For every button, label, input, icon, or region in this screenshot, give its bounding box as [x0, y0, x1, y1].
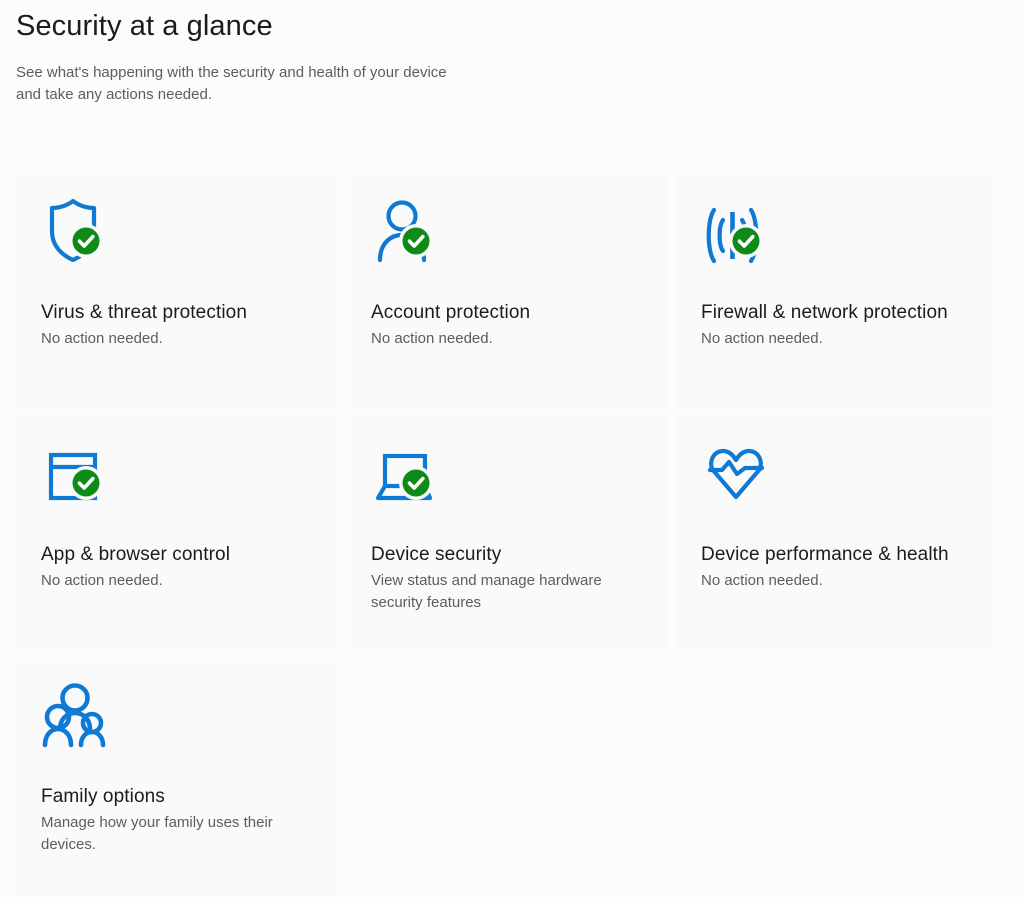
page-subtitle-line-2: and take any actions needed.	[16, 84, 536, 106]
security-at-a-glance-page: Security at a glance See what's happenin…	[0, 0, 1024, 897]
card-text-block: Account protection No action needed.	[371, 299, 652, 350]
browser-window-icon	[42, 437, 118, 513]
card-device-performance-health[interactable]: Device performance & health No action ne…	[676, 415, 998, 654]
card-account-protection[interactable]: Account protection No action needed.	[346, 173, 668, 412]
card-description: No action needed.	[41, 570, 291, 592]
card-title: Device performance & health	[701, 541, 982, 568]
card-description: No action needed.	[371, 328, 621, 350]
card-title: Family options	[41, 783, 322, 810]
page-subtitle-line-1: See what's happening with the security a…	[16, 62, 536, 84]
card-text-block: Firewall & network protection No action …	[701, 299, 982, 350]
card-text-block: Virus & threat protection No action need…	[41, 299, 322, 350]
shield-icon	[42, 195, 118, 271]
card-title: Virus & threat protection	[41, 299, 322, 326]
page-title: Security at a glance	[16, 6, 1024, 46]
card-text-block: Device security View status and manage h…	[371, 541, 652, 614]
family-people-icon	[42, 679, 118, 755]
card-family-options[interactable]: Family options Manage how your family us…	[16, 657, 338, 896]
page-subtitle: See what's happening with the security a…	[16, 62, 536, 106]
card-firewall-network-protection[interactable]: Firewall & network protection No action …	[676, 173, 998, 412]
card-text-block: Family options Manage how your family us…	[41, 783, 322, 856]
card-text-block: App & browser control No action needed.	[41, 541, 322, 592]
card-description: View status and manage hardware security…	[371, 570, 621, 614]
heart-pulse-icon	[702, 437, 778, 513]
card-virus-threat-protection[interactable]: Virus & threat protection No action need…	[16, 173, 338, 412]
firewall-signal-icon	[702, 195, 778, 271]
card-description: No action needed.	[41, 328, 291, 350]
card-title: Account protection	[371, 299, 652, 326]
card-description: No action needed.	[701, 328, 951, 350]
page-header: Security at a glance See what's happenin…	[0, 0, 1024, 106]
card-title: App & browser control	[41, 541, 322, 568]
person-icon	[372, 195, 448, 271]
security-cards-grid: Virus & threat protection No action need…	[16, 173, 996, 896]
card-title: Firewall & network protection	[701, 299, 982, 326]
card-device-security[interactable]: Device security View status and manage h…	[346, 415, 668, 654]
laptop-icon	[372, 437, 448, 513]
card-text-block: Device performance & health No action ne…	[701, 541, 982, 592]
card-description: Manage how your family uses their device…	[41, 812, 291, 856]
card-title: Device security	[371, 541, 652, 568]
card-app-browser-control[interactable]: App & browser control No action needed.	[16, 415, 338, 654]
card-description: No action needed.	[701, 570, 951, 592]
